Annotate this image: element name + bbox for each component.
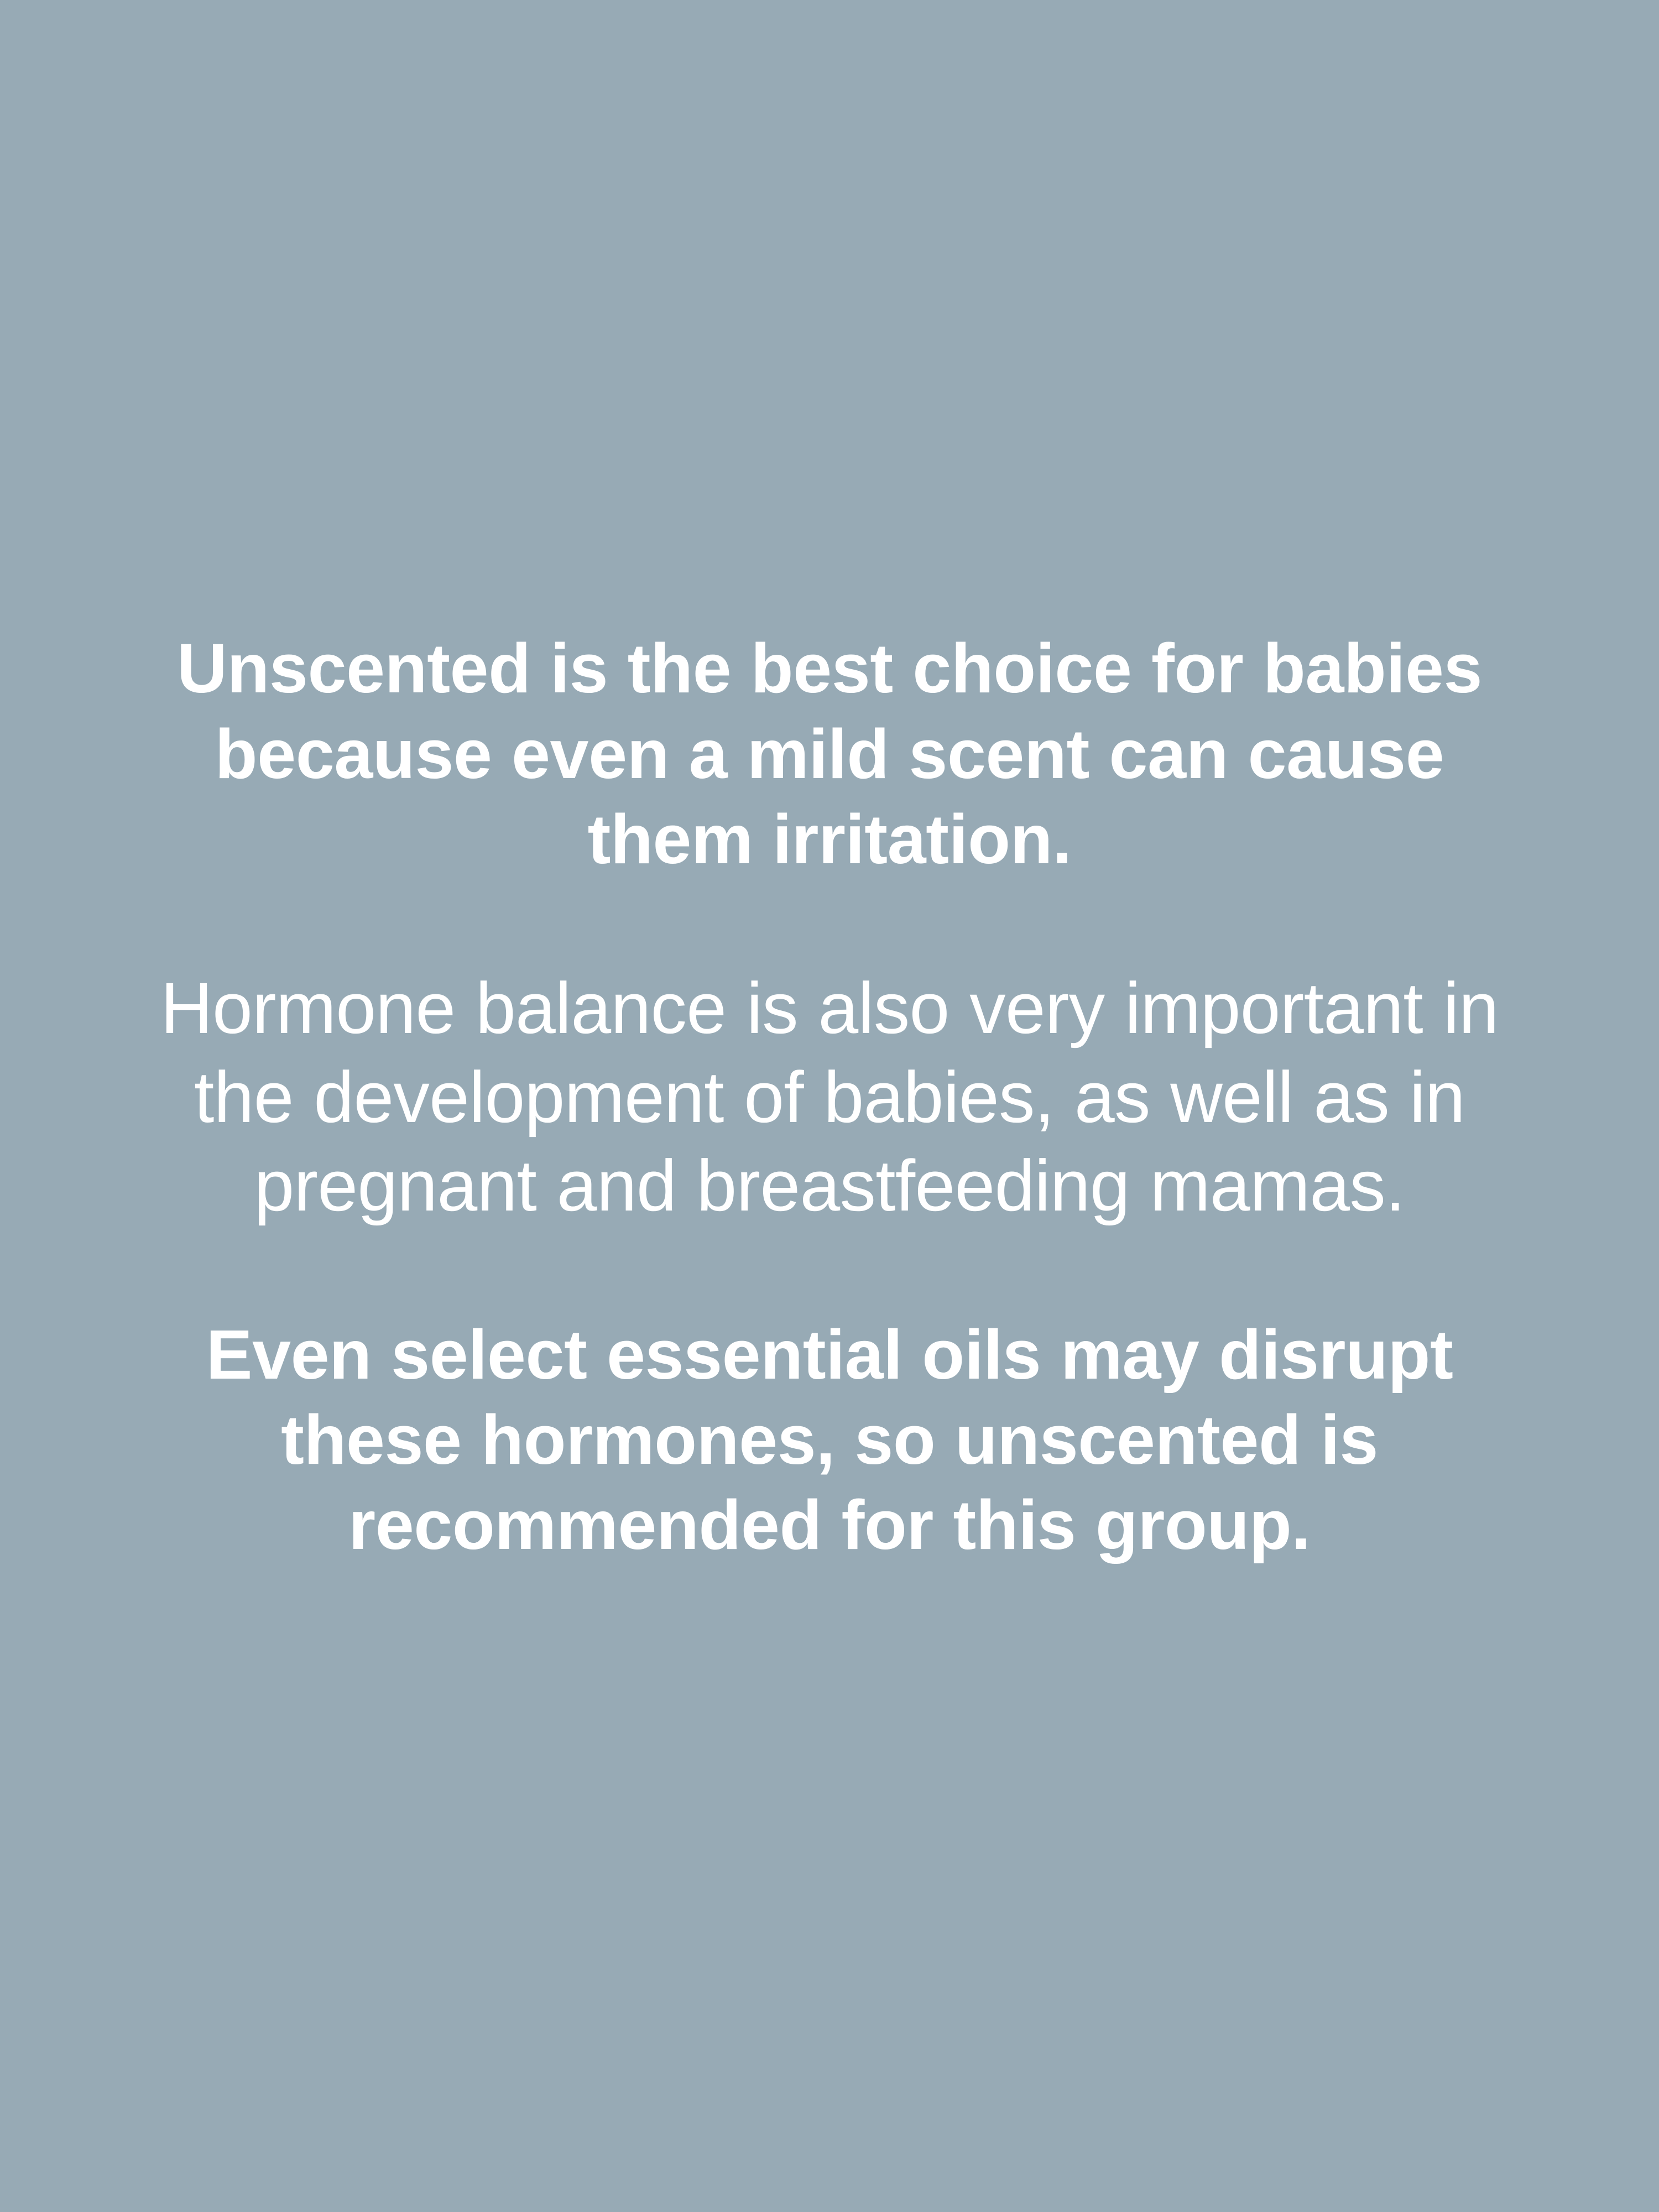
paragraph-2-line-1: Hormone balance is also very important i…: [72, 964, 1587, 1052]
paragraph-1-line-3: them irritation.: [72, 797, 1587, 882]
paragraph-1-line-2: because even a mild scent can cause: [72, 712, 1587, 797]
paragraph-2-line-3: pregnant and breastfeeding mamas.: [72, 1141, 1587, 1230]
paragraph-3-line-3: recommended for this group.: [72, 1483, 1587, 1568]
paragraph-essential-oils: Even select essential oils may disrupt t…: [72, 1312, 1587, 1568]
paragraph-unscented-babies: Unscented is the best choice for babies …: [72, 626, 1587, 882]
paragraph-3-line-1: Even select essential oils may disrupt: [72, 1312, 1587, 1397]
paragraph-spacer-2: [72, 1230, 1587, 1312]
text-card: Unscented is the best choice for babies …: [0, 0, 1659, 2212]
text-block: Unscented is the best choice for babies …: [72, 626, 1587, 1568]
paragraph-spacer-1: [72, 882, 1587, 964]
paragraph-hormone-balance: Hormone balance is also very important i…: [72, 964, 1587, 1230]
paragraph-2-line-2: the development of babies, as well as in: [72, 1053, 1587, 1141]
paragraph-1-line-1: Unscented is the best choice for babies: [72, 626, 1587, 711]
paragraph-3-line-2: these hormones, so unscented is: [72, 1397, 1587, 1483]
